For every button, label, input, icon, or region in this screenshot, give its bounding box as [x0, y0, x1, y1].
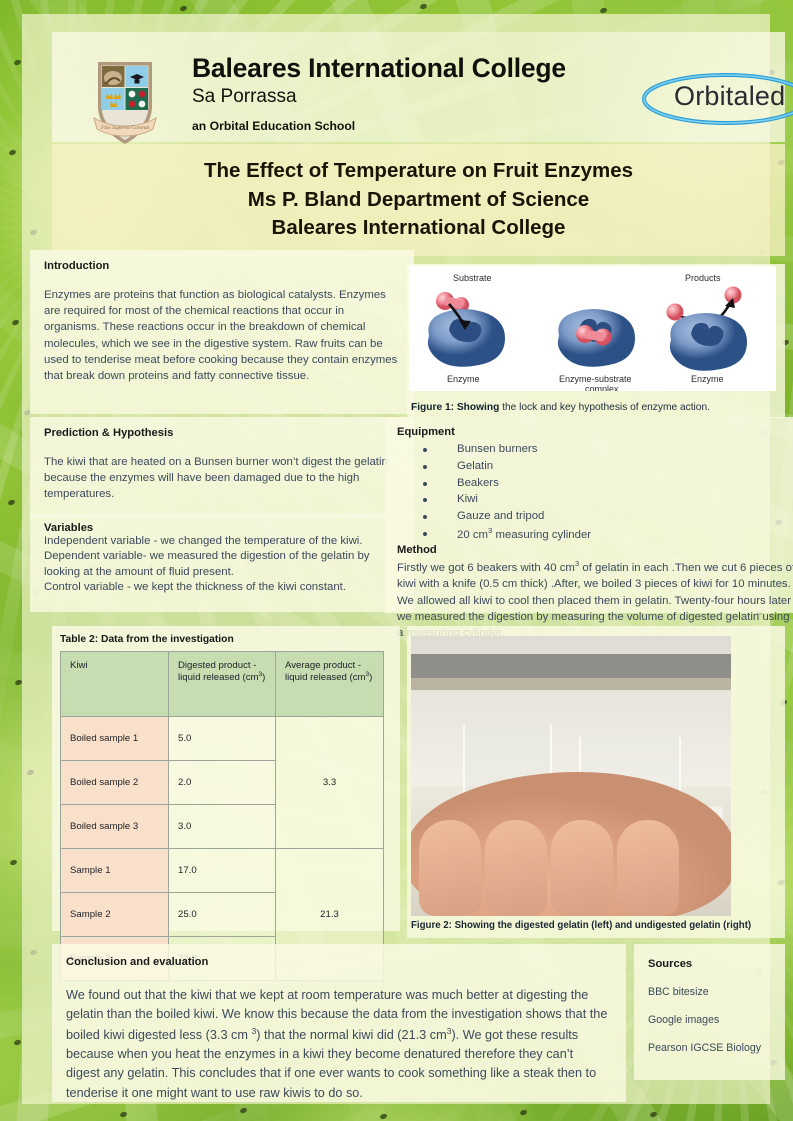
list-item: Beakers: [397, 475, 793, 492]
table-header-row: Kiwi Digested product - liquid released …: [61, 652, 384, 717]
kiwi-seed: [11, 319, 19, 326]
kiwi-seed: [519, 1109, 527, 1116]
sources-heading: Sources: [648, 958, 785, 970]
introduction-heading: Introduction: [44, 260, 400, 272]
brand-tagline: an Orbital Education School: [192, 119, 566, 133]
equipment-list: Bunsen burners Gelatin Beakers Kiwi Gauz…: [397, 441, 793, 543]
orbitaled-logo: Orbitaled: [638, 68, 793, 130]
list-item: Gelatin: [397, 458, 793, 475]
variables-line-2: Dependent variable- we measured the dige…: [44, 549, 400, 580]
kiwi-seed: [179, 5, 187, 12]
equipment-item-6-pre: 20 cm: [457, 529, 488, 541]
equipment-item-6-post: measuring cylinder: [492, 529, 591, 541]
kiwi-seed: [8, 149, 16, 156]
section-sources: Sources BBC bitesize Google images Pears…: [634, 944, 785, 1080]
photo-finger: [551, 820, 613, 916]
conclusion-part-2: ) that the normal kiwi did (21.3 cm: [256, 1028, 446, 1042]
cell-label: Sample 1: [61, 849, 169, 893]
list-item: Gauze and tripod: [397, 508, 793, 525]
cell-label: Sample 2: [61, 893, 169, 937]
figure1-label-enzyme-right: Enzyme: [691, 374, 724, 384]
cell-value: 17.0: [169, 849, 276, 893]
enzyme-lock-and-key-diagram: Substrate Enzyme Enzyme-substrate comple…: [409, 266, 776, 391]
figure2-caption: Figure 2: Showing the digested gelatin (…: [411, 920, 781, 931]
table-row: Sample 1 17.0 21.3: [61, 849, 384, 893]
figure1-caption: Figure 1: Showing the lock and key hypot…: [411, 402, 781, 413]
section-prediction: Prediction & Hypothesis The kiwi that ar…: [30, 417, 414, 518]
photo-finger: [617, 820, 679, 916]
cell-label: Boiled sample 1: [61, 717, 169, 761]
figure1-label-products: Products: [685, 273, 721, 283]
variables-heading: Variables: [44, 522, 400, 534]
figure1-caption-rest: the lock and key hypothesis of enzyme ac…: [499, 402, 710, 413]
kiwi-seed: [9, 859, 17, 866]
crest-motto: Fitis Superna Coronat: [100, 125, 150, 131]
title-institution: Baleares International College: [272, 214, 566, 243]
cell-label: Boiled sample 2: [61, 761, 169, 805]
section-introduction: Introduction Enzymes are proteins that f…: [30, 250, 414, 414]
kiwi-seed: [13, 1039, 21, 1046]
list-item: Bunsen burners: [397, 441, 793, 458]
poster-header: Fitis Superna Coronat Baleares Internati…: [52, 32, 785, 142]
section-equipment-method: Equipment Bunsen burners Gelatin Beakers…: [385, 417, 793, 613]
table-title: Table 2: Data from the investigation: [60, 634, 234, 645]
introduction-body: Enzymes are proteins that function as bi…: [44, 287, 400, 384]
kiwi-seed: [7, 499, 15, 506]
column-header-average-text: Average product - liquid released (cm: [285, 660, 366, 683]
figure1-caption-bold: Figure 1: Showing: [411, 402, 499, 413]
cell-label: Boiled sample 3: [61, 805, 169, 849]
cell-average: 3.3: [276, 717, 384, 849]
figure1-label-enzyme-left: Enzyme: [447, 374, 480, 384]
kiwi-seed: [119, 1111, 127, 1118]
conclusion-body: We found out that the kiwi that we kept …: [66, 986, 610, 1103]
section-variables: Variables Independent variable - we chan…: [30, 514, 414, 612]
cell-value: 3.0: [169, 805, 276, 849]
kiwi-seed: [239, 1107, 247, 1114]
column-header-digested-post: ): [262, 672, 265, 683]
data-table: Kiwi Digested product - liquid released …: [60, 651, 384, 981]
column-header-average-post: ): [369, 672, 372, 683]
photo-finger: [419, 820, 481, 916]
column-header-digested-text: Digested product - liquid released (cm: [178, 660, 259, 683]
photo-shelf-dark: [411, 654, 731, 680]
column-header-kiwi: Kiwi: [61, 652, 169, 717]
method-part-1: Firstly we got 6 beakers with 40 cm: [397, 562, 575, 574]
column-header-kiwi-text: Kiwi: [70, 660, 88, 671]
title-author: Ms P. Bland Department of Science: [248, 186, 589, 215]
orbitaled-wordmark: Orbitaled: [674, 81, 785, 112]
kiwi-seed: [379, 1113, 387, 1120]
photo-finger: [485, 820, 547, 916]
photo-shelf-light: [411, 678, 731, 690]
conclusion-heading: Conclusion and evaluation: [66, 956, 626, 968]
prediction-heading: Prediction & Hypothesis: [44, 427, 400, 439]
poster-canvas: Fitis Superna Coronat Baleares Internati…: [22, 14, 770, 1104]
kiwi-seed: [13, 59, 21, 66]
school-crest-icon: Fitis Superna Coronat: [92, 56, 158, 148]
brand-campus: Sa Porrassa: [192, 85, 566, 109]
list-item: 20 cm3 measuring cylinder: [397, 525, 793, 544]
cell-value: 25.0: [169, 893, 276, 937]
source-item: Google images: [648, 1014, 785, 1026]
cell-value: 5.0: [169, 717, 276, 761]
column-header-digested: Digested product - liquid released (cm3): [169, 652, 276, 717]
brand-name: Baleares International College: [192, 54, 566, 83]
poster-title-block: The Effect of Temperature on Fruit Enzym…: [52, 144, 785, 256]
source-item: BBC bitesize: [648, 986, 785, 998]
kiwi-seed: [649, 1111, 657, 1118]
kiwi-seed: [599, 7, 607, 14]
equipment-heading: Equipment: [397, 426, 793, 438]
variables-line-3: Control variable - we kept the thickness…: [44, 580, 400, 595]
kiwi-seed: [419, 3, 427, 10]
beakers-gelatin-photo: [411, 636, 731, 916]
table-row: Boiled sample 1 5.0 3.3: [61, 717, 384, 761]
figure1-label-complex-2: complex: [585, 384, 619, 391]
variables-line-1: Independent variable - we changed the te…: [44, 534, 400, 549]
figure1-label-complex-1: Enzyme-substrate: [559, 374, 632, 384]
page-title: The Effect of Temperature on Fruit Enzym…: [204, 157, 633, 186]
section-conclusion: Conclusion and evaluation We found out t…: [52, 944, 626, 1102]
source-item: Pearson IGCSE Biology: [648, 1042, 785, 1054]
brand-text-block: Baleares International College Sa Porras…: [192, 54, 566, 133]
prediction-body: The kiwi that are heated on a Bunsen bur…: [44, 454, 400, 503]
list-item: Kiwi: [397, 491, 793, 508]
column-header-average: Average product - liquid released (cm3): [276, 652, 384, 717]
figure1-label-substrate: Substrate: [453, 273, 492, 283]
method-heading: Method: [397, 544, 793, 556]
cell-value: 2.0: [169, 761, 276, 805]
